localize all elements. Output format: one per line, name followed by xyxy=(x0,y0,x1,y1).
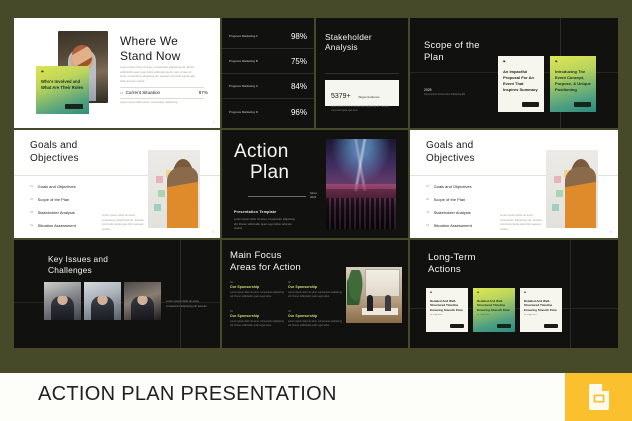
list-item-label: Stakeholder Analysis xyxy=(38,210,75,215)
divider xyxy=(120,98,204,99)
stat-label: Current Situation xyxy=(126,90,160,95)
slide-body-text: Lorem ipsum dolor sit amet, consectetur … xyxy=(120,66,198,84)
list-item-number: 01. xyxy=(426,185,430,188)
quote-mark-icon: ❝ xyxy=(41,71,84,76)
photo-sticky-notes xyxy=(148,150,200,228)
slide-title: Goals and Objectives xyxy=(426,140,475,165)
slide-where-we-stand-now[interactable]: ❝ Who's Involved and What Are Their Role… xyxy=(14,18,220,128)
slide-title: Key Issues and Challenges xyxy=(48,254,108,276)
slide-title-line1: Goals and xyxy=(30,140,79,153)
slide-footnote: Lorem ipsum dolor amet, consectetur adip… xyxy=(120,101,204,106)
divider xyxy=(570,240,571,348)
photo-event-venue xyxy=(326,139,396,229)
slide-title-line2: Analysis xyxy=(325,42,372,52)
photo-office-lounge xyxy=(346,267,402,323)
timeline-card-date: 01 July 2025 xyxy=(477,314,511,316)
focus-item-number: 04. xyxy=(288,310,344,313)
slide-title: Action Plan xyxy=(234,142,289,184)
slide-title: Stakeholder Analysis xyxy=(325,32,372,53)
since-block: Since 2023 xyxy=(310,191,317,200)
list-item-label: Goals and Objectives xyxy=(38,184,76,189)
quote-card-text: An Impactful Proposal For An Event That … xyxy=(503,69,539,93)
slide-title-line1: Action xyxy=(234,141,289,162)
slide-title-line1: Main Focus xyxy=(230,250,301,262)
slide-grid: ❝ Who's Involved and What Are Their Role… xyxy=(14,18,618,358)
card-pill-button[interactable] xyxy=(497,324,511,329)
progress-row: Progress Marketing C 84% xyxy=(222,75,314,99)
slide-title-line2: Plan xyxy=(250,163,289,184)
progress-value: 84% xyxy=(291,82,307,91)
slide-title-line1: Goals and xyxy=(426,140,475,153)
focus-item-number: 03. xyxy=(230,310,286,313)
quote-card: ❝ Who's Involved and What Are Their Role… xyxy=(36,66,89,114)
list-item-number: 04. xyxy=(30,224,34,227)
slide-action-plan-cover[interactable]: Action Plan Since 2023 Presentation Temp… xyxy=(222,130,408,238)
stat-tag: Target Audience xyxy=(358,95,380,99)
slide-title-line1: Key Issues and xyxy=(48,254,108,265)
slide-body-text: Lorem ipsum dolor sit amet, consectetur … xyxy=(102,214,144,232)
progress-label: Progress Marketing D xyxy=(229,110,258,115)
timeline-card-date: 01 July 2025 xyxy=(430,314,464,316)
progress-row: Progress Marketing B 75% xyxy=(222,50,314,74)
list-item-label: Situation Assessment xyxy=(434,223,472,228)
focus-item: 02. Our Sponsorship Lorem ipsum dolor si… xyxy=(288,281,344,299)
slide-title-line1: Long-Term xyxy=(428,252,476,264)
slide-stakeholder-analysis[interactable]: Stakeholder Analysis 5379+ Target Audien… xyxy=(316,18,408,128)
quote-mark-icon: ❝ xyxy=(555,61,591,65)
focus-item-title: Our Sponsorship xyxy=(230,314,286,318)
timeline-card[interactable]: ❝ Detailed And Well-Structured Timeline … xyxy=(426,288,468,332)
page-number: 1 xyxy=(213,121,214,124)
photo-sticky-notes xyxy=(546,150,598,228)
focus-item-desc: Lorem ipsum dolor sit amet, consectetur … xyxy=(230,320,286,328)
google-slides-badge[interactable] xyxy=(565,373,632,421)
quote-card-text: Who's Involved and What Are Their Roles xyxy=(41,79,84,91)
slide-title-line2: Objectives xyxy=(426,153,475,166)
list-item: 01. Goals and Objectives xyxy=(426,184,472,189)
list-item: 03. Stakeholder Analysis xyxy=(426,210,471,215)
list-item-number: 02. xyxy=(426,198,430,201)
slide-main-focus-areas-for-action[interactable]: Main Focus Areas for Action 01. Our Spon… xyxy=(222,240,408,348)
photo-team-meeting-3 xyxy=(124,282,161,320)
quote-card-text: Introducing The Event Concept, Purpose, … xyxy=(555,69,591,93)
slide-progress-marketing[interactable]: Progress Marketing A 98% Progress Market… xyxy=(222,18,314,128)
timeline-card-text: Detailed And Well-Structured Timeline En… xyxy=(477,299,511,313)
stat-value: 87% xyxy=(199,90,208,95)
slide-scope-of-the-plan[interactable]: Scope of the Plan 2025 Lorem ipsum Conse… xyxy=(410,18,618,128)
focus-item-desc: Lorem ipsum dolor sit amet, consectetur … xyxy=(288,291,344,299)
slide-key-issues-and-challenges[interactable]: Key Issues and Challenges Lorem ipsum do… xyxy=(14,240,220,348)
timeline-card-text: Detailed And Well-Structured Timeline En… xyxy=(430,299,464,313)
divider xyxy=(120,87,204,88)
slide-body-text: Lorem ipsum dolor sit amet, consectetur … xyxy=(234,218,296,232)
timeline-card[interactable]: ❝ Detailed And Well-Structured Timeline … xyxy=(520,288,562,332)
quote-mark-icon: ❝ xyxy=(503,61,539,65)
timeline-card-text: Detailed And Well-Structured Timeline En… xyxy=(524,299,558,313)
slide-title: Long-Term Actions xyxy=(428,252,476,277)
page-number: 5 xyxy=(213,231,214,234)
focus-item-number: 02. xyxy=(288,281,344,284)
quote-card[interactable]: ❝ Introducing The Event Concept, Purpose… xyxy=(550,56,596,112)
list-item-number: 02. xyxy=(30,198,34,201)
divider xyxy=(180,240,181,348)
quote-mark-icon: ❝ xyxy=(477,292,511,296)
slide-title-line2: Objectives xyxy=(30,153,79,166)
presentation-preview-page: ❝ Who's Involved and What Are Their Role… xyxy=(0,0,632,421)
list-item-label: Scope of the Plan xyxy=(38,197,70,202)
list-item-label: Situation Assessment xyxy=(38,223,76,228)
focus-item-desc: Lorem ipsum dolor sit amet, consectetur … xyxy=(288,320,344,328)
stat-subtext: Lorem ipsum dolor sit consectetur adipis… xyxy=(331,106,393,114)
slide-goals-and-objectives-2[interactable]: Goals and Objectives 01. Goals and Objec… xyxy=(410,130,618,238)
progress-label: Progress Marketing C xyxy=(229,84,258,89)
year-value: 2025 xyxy=(424,88,465,92)
list-item-number: 03. xyxy=(30,211,34,214)
list-item: 04. Situation Assessment xyxy=(30,223,76,228)
focus-item-title: Our Sponsorship xyxy=(288,314,344,318)
list-item: 04. Situation Assessment xyxy=(426,223,472,228)
slide-title-line1: Where We xyxy=(120,34,181,49)
progress-row: Progress Marketing D 96% xyxy=(222,100,314,124)
slide-title: Goals and Objectives xyxy=(30,140,79,165)
quote-mark-icon: ❝ xyxy=(524,292,558,296)
stat-row: 01. Current Situation 87% xyxy=(120,90,208,95)
list-item-label: Scope of the Plan xyxy=(434,197,466,202)
divider xyxy=(325,73,399,74)
focus-item-desc: Lorem ipsum dolor sit amet, consectetur … xyxy=(230,291,286,299)
slide-long-term-actions[interactable]: Long-Term Actions ❝ Detailed And Well-St… xyxy=(410,240,618,348)
progress-value: 96% xyxy=(291,108,307,117)
progress-row: Progress Marketing A 98% xyxy=(222,25,314,49)
quote-mark-icon: ❝ xyxy=(430,292,464,296)
slide-title-line2: Actions xyxy=(428,264,476,276)
card-pill-button[interactable] xyxy=(574,102,591,107)
focus-item: 03. Our Sponsorship Lorem ipsum dolor si… xyxy=(230,310,286,328)
slide-subtitle: Presentation Template xyxy=(234,210,276,214)
stat-value: 5379+ xyxy=(331,93,351,100)
card-pill-button[interactable] xyxy=(544,324,558,329)
list-item-number: 01. xyxy=(30,185,34,188)
slide-title: Scope of the Plan xyxy=(424,40,480,64)
focus-item-number: 01. xyxy=(230,281,286,284)
slide-goals-and-objectives[interactable]: Goals and Objectives 01. Goals and Objec… xyxy=(14,130,220,238)
list-item: 01. Goals and Objectives xyxy=(30,184,76,189)
progress-value: 75% xyxy=(291,57,307,66)
slide-body-text: Lorem ipsum dolor sit amet, consectetur … xyxy=(500,214,542,232)
list-item-label: Goals and Objectives xyxy=(434,184,472,189)
progress-value: 98% xyxy=(291,32,307,41)
timeline-card-date: 01 July 2025 xyxy=(524,314,558,316)
progress-label: Progress Marketing A xyxy=(229,34,258,39)
slide-title-line1: Scope of the xyxy=(424,40,480,52)
card-pill-button[interactable] xyxy=(65,104,83,109)
stat-number: 01. xyxy=(120,92,124,95)
list-item-label: Stakeholder Analysis xyxy=(434,210,471,215)
slide-body-text: Lorem ipsum dolor sit amet, consectetur … xyxy=(166,300,208,309)
quote-card[interactable]: ❝ An Impactful Proposal For An Event Tha… xyxy=(498,56,544,112)
progress-label: Progress Marketing B xyxy=(229,59,258,64)
stat-card: 5379+ Target Audience Lorem ipsum dolor … xyxy=(325,80,399,106)
list-item-number: 03. xyxy=(426,211,430,214)
slide-title: Where We Stand Now xyxy=(120,34,181,63)
card-pill-button[interactable] xyxy=(522,102,539,107)
photo-team-meeting-2 xyxy=(84,282,121,320)
timeline-card[interactable]: ❝ Detailed And Well-Structured Timeline … xyxy=(473,288,515,332)
slide-title-line2: Areas for Action xyxy=(230,262,301,274)
photo-team-meeting-1 xyxy=(44,282,81,320)
year-block: 2025 Lorem ipsum Consectetur Adipiscing … xyxy=(424,88,465,97)
list-item: 02. Scope of the Plan xyxy=(426,197,465,202)
year-subtext: Lorem ipsum Consectetur Adipiscing Elit xyxy=(424,94,465,98)
caption-title: ACTION PLAN PRESENTATION xyxy=(38,383,337,406)
card-pill-button[interactable] xyxy=(450,324,464,329)
list-item: 03. Stakeholder Analysis xyxy=(30,210,75,215)
slide-title-line1: Stakeholder xyxy=(325,32,372,42)
caption-bar: ACTION PLAN PRESENTATION xyxy=(0,373,632,421)
slide-title-line2: Stand Now xyxy=(120,49,181,64)
focus-item: 01. Our Sponsorship Lorem ipsum dolor si… xyxy=(230,281,286,299)
since-year: 2023 xyxy=(310,195,317,199)
focus-item-title: Our Sponsorship xyxy=(230,285,286,289)
page-number: 8 xyxy=(611,231,612,234)
slide-title: Main Focus Areas for Action xyxy=(230,250,301,275)
divider xyxy=(248,196,306,197)
focus-item-title: Our Sponsorship xyxy=(288,285,344,289)
focus-item: 04. Our Sponsorship Lorem ipsum dolor si… xyxy=(288,310,344,328)
slide-title-line2: Challenges xyxy=(48,265,108,276)
list-item: 02. Scope of the Plan xyxy=(30,197,69,202)
list-item-number: 04. xyxy=(426,224,430,227)
slide-title-line2: Plan xyxy=(424,52,480,64)
google-slides-icon xyxy=(589,384,609,410)
